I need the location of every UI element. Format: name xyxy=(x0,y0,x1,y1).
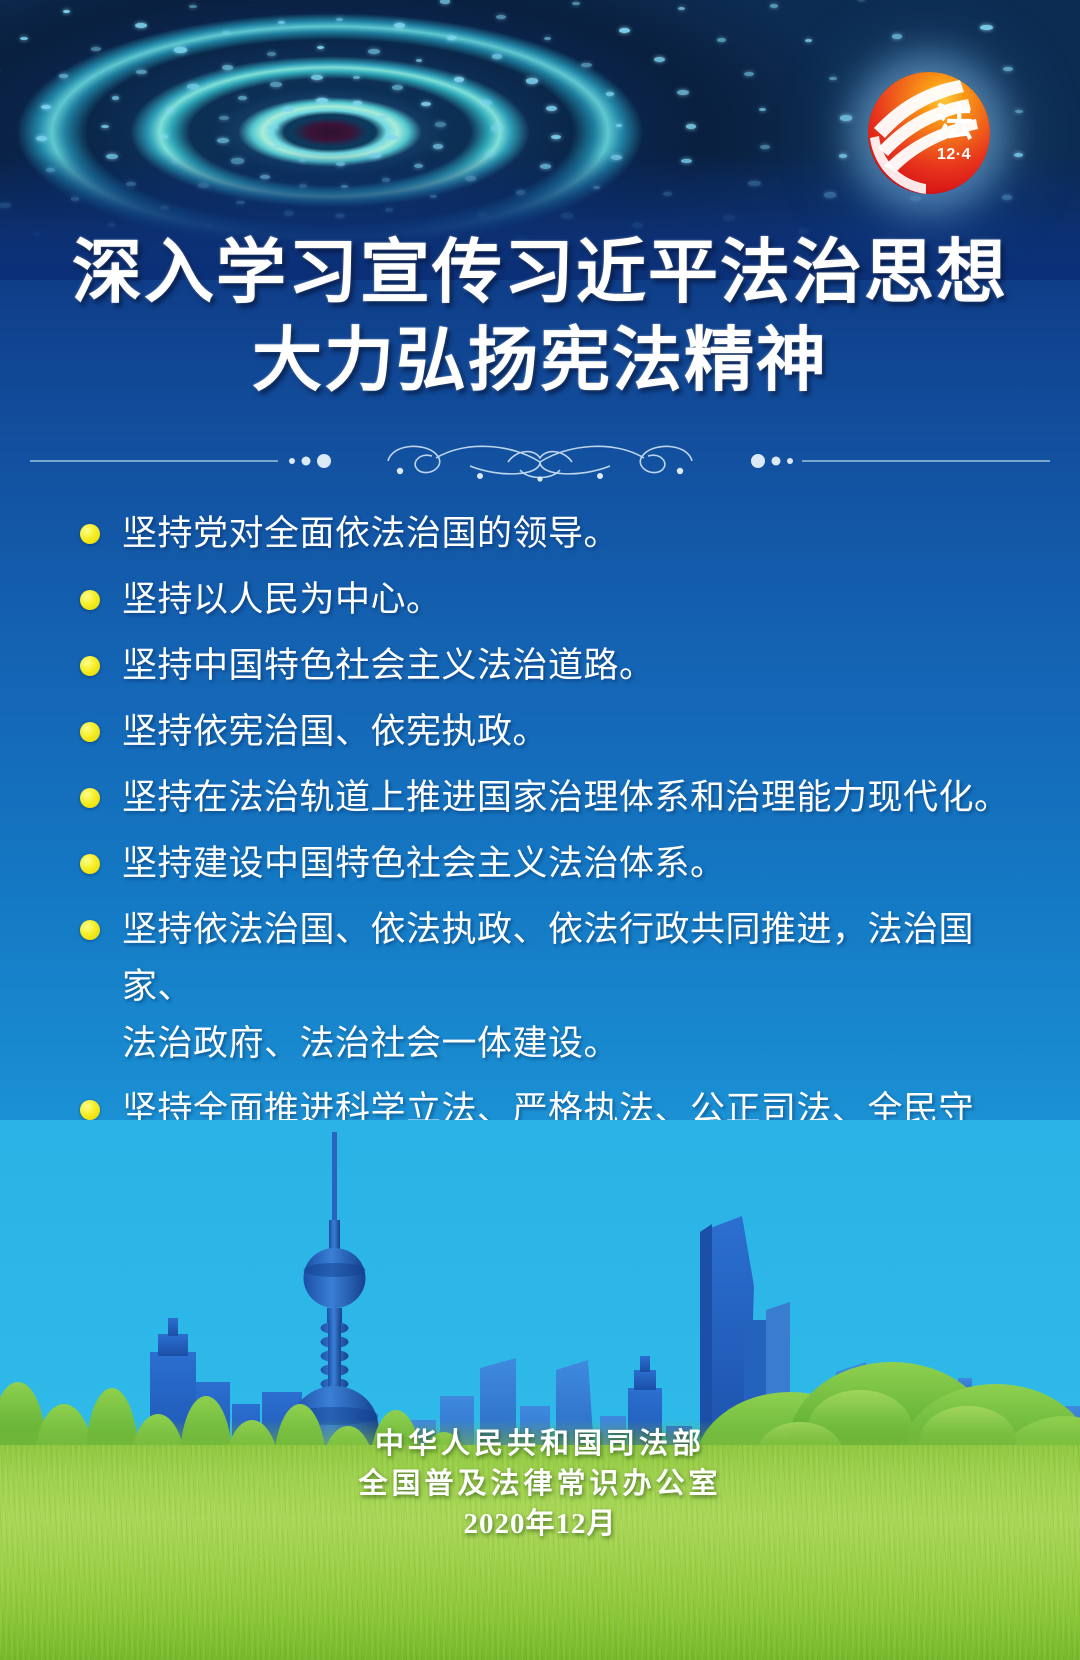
principle-text: 坚持依宪治国、依宪执政。 xyxy=(122,712,548,751)
bullet-dot-icon xyxy=(80,590,100,610)
principle-item: 坚持党对全面依法治国的领导。 xyxy=(74,505,1010,562)
footer-date: 2020年12月 xyxy=(0,1504,1080,1544)
bullet-dot-icon xyxy=(80,1100,100,1120)
principle-item: 坚持依宪治国、依宪执政。 xyxy=(74,703,1010,760)
city-and-landscape-scene xyxy=(0,1120,1080,1660)
principle-text: 坚持党对全面依法治国的领导。 xyxy=(122,514,619,553)
legal-publicity-poster: 法 12·4 深入学习宣传习近平法治思想 大力弘扬宪法精神 xyxy=(0,0,1080,1660)
national-constitution-day-logo: 法 12·4 xyxy=(868,72,990,194)
principle-text: 坚持在法治轨道上推进国家治理体系和治理能力现代化。 xyxy=(122,778,1010,817)
principle-item: 坚持建设中国特色社会主义法治体系。 xyxy=(74,835,1010,892)
logo-disc: 法 12·4 xyxy=(868,72,990,194)
principle-item: 坚持依法治国、依法执政、依法行政共同推进，法治国家、法治政府、法治社会一体建设。 xyxy=(74,901,1010,1072)
footer-line-1: 中华人民共和国司法部 xyxy=(0,1424,1080,1464)
principle-text: 坚持依法治国、依法执政、依法行政共同推进，法治国家、 xyxy=(122,910,974,1006)
principle-text: 坚持建设中国特色社会主义法治体系。 xyxy=(122,844,726,883)
bullet-dot-icon xyxy=(80,524,100,544)
principle-text-wrap: 法治政府、法治社会一体建设。 xyxy=(122,1015,1010,1072)
principle-item: 坚持在法治轨道上推进国家治理体系和治理能力现代化。 xyxy=(74,769,1010,826)
bullet-dot-icon xyxy=(80,854,100,874)
fa-character: 法 xyxy=(931,102,977,146)
principle-text: 坚持以人民为中心。 xyxy=(122,580,442,619)
principle-item: 坚持中国特色社会主义法治道路。 xyxy=(74,637,1010,694)
bullet-dot-icon xyxy=(80,722,100,742)
bullet-dot-icon xyxy=(80,920,100,940)
ornamental-divider xyxy=(0,432,1080,488)
title-line-1: 深入学习宣传习近平法治思想 xyxy=(72,233,1008,311)
poster-title: 深入学习宣传习近平法治思想 大力弘扬宪法精神 xyxy=(0,228,1080,404)
principle-item: 坚持以人民为中心。 xyxy=(74,571,1010,628)
logo-date-label: 12·4 xyxy=(930,146,978,164)
bullet-dot-icon xyxy=(80,788,100,808)
poster-footer: 中华人民共和国司法部 全国普及法律常识办公室 2020年12月 xyxy=(0,1424,1080,1544)
footer-line-2: 全国普及法律常识办公室 xyxy=(0,1464,1080,1504)
title-line-2: 大力弘扬宪法精神 xyxy=(0,316,1080,404)
bullet-dot-icon xyxy=(80,656,100,676)
principle-text: 坚持中国特色社会主义法治道路。 xyxy=(122,646,655,685)
